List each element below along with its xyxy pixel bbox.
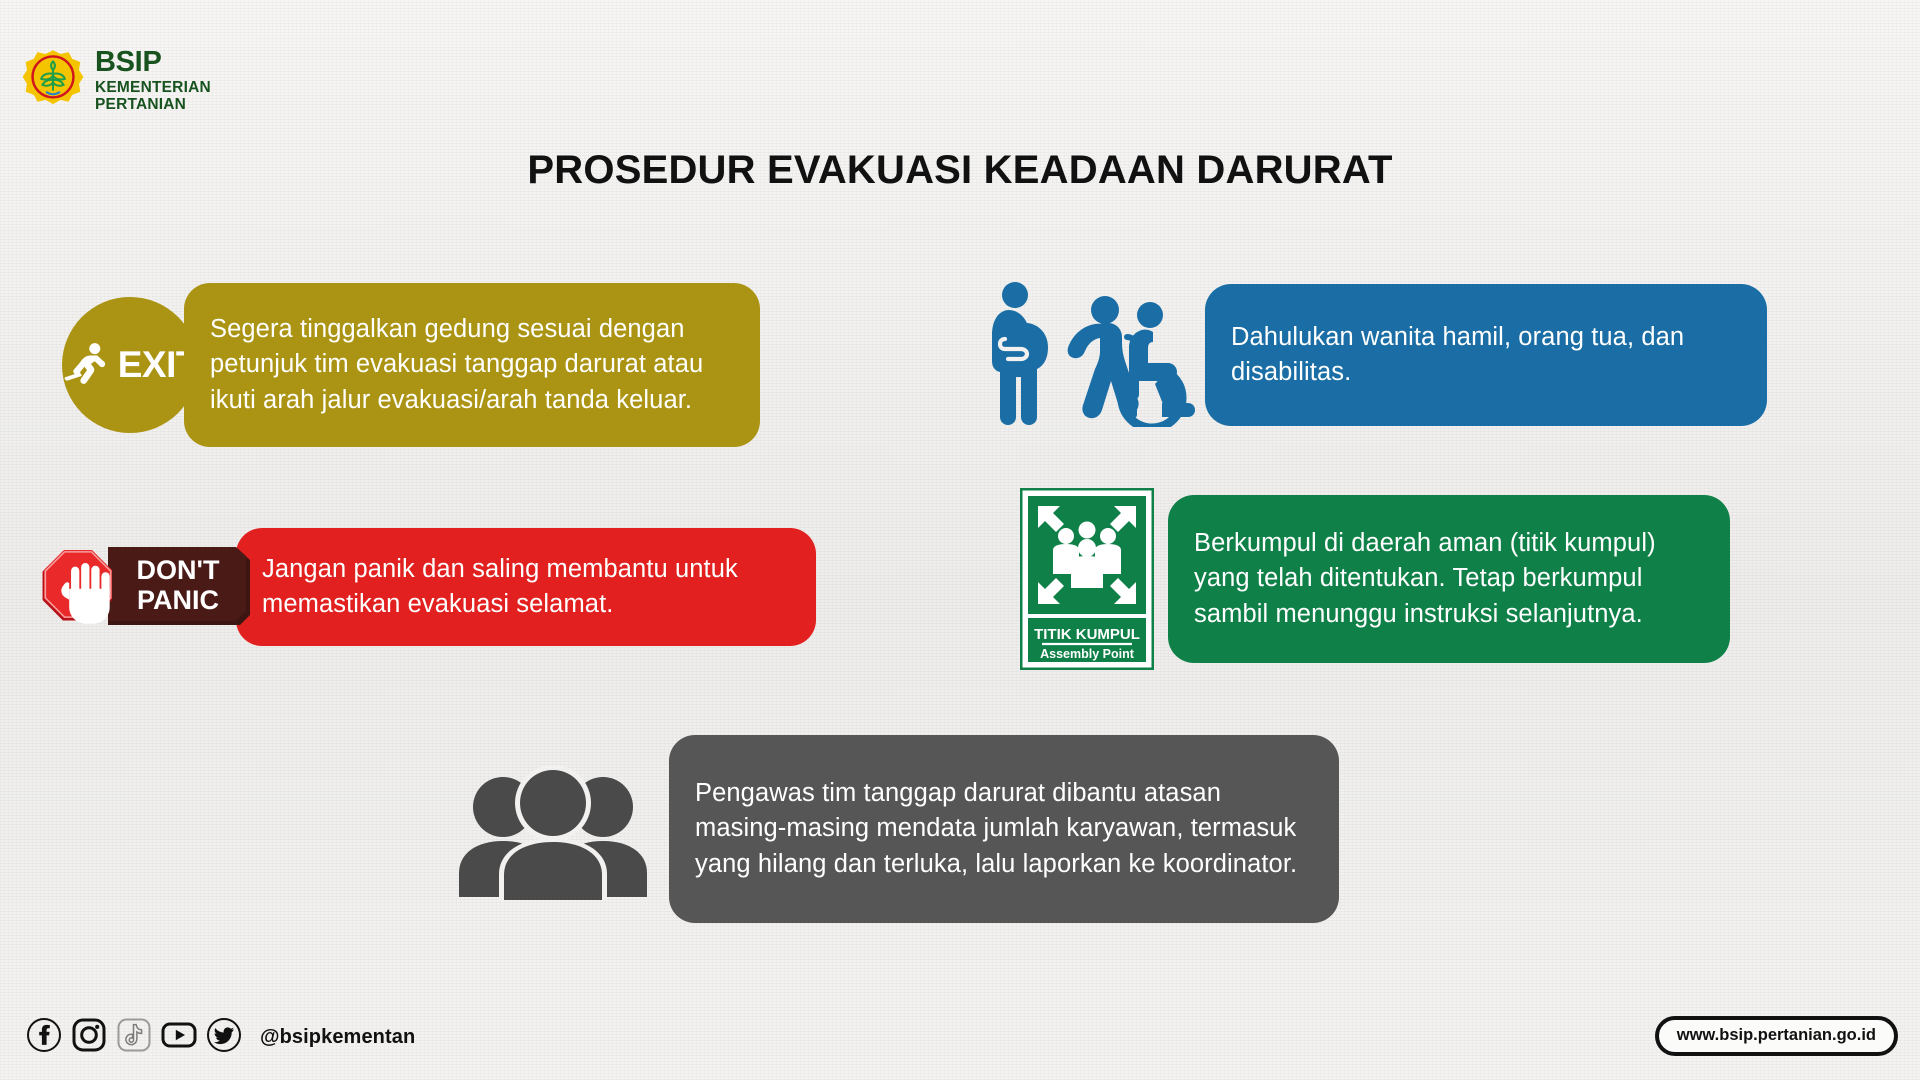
tiktok-icon[interactable]: [116, 1017, 152, 1058]
panic-label: PANIC: [137, 585, 219, 615]
brand-ministry-line-2: PERTANIAN: [95, 97, 211, 113]
brand-ministry-line-1: KEMENTERIAN: [95, 80, 211, 96]
social-handle: @bsipkementan: [260, 1026, 415, 1049]
page-title: PROSEDUR EVAKUASI KEADAAN DARURAT: [0, 148, 1920, 193]
stop-hand-dont-panic-icon: DON'T PANIC: [22, 533, 254, 641]
brand-wordmark: BSIP KEMENTERIAN PERTANIAN: [95, 48, 211, 112]
dont-label: DON'T: [137, 555, 220, 585]
step-priority: Dahulukan wanita hamil, orang tua, dan d…: [975, 283, 1767, 427]
facebook-icon[interactable]: [26, 1017, 62, 1058]
step-supervisor: Pengawas tim tanggap darurat dibantu ata…: [455, 735, 1339, 923]
step-exit-text: Segera tinggalkan gedung sesuai dengan p…: [210, 312, 734, 418]
instagram-icon[interactable]: [71, 1017, 107, 1058]
twitter-icon[interactable]: [206, 1017, 242, 1058]
step-assembly-text: Berkumpul di daerah aman (titik kumpul) …: [1194, 526, 1704, 632]
assembly-point-label: Assembly Point: [1040, 647, 1135, 661]
step-supervisor-bubble: Pengawas tim tanggap darurat dibantu ata…: [669, 735, 1339, 923]
group-of-people-icon: [455, 761, 651, 897]
footer-social-bar: @bsipkementan: [26, 1017, 415, 1058]
brand-name: BSIP: [95, 48, 211, 77]
assembly-point-sign-icon: TITIK KUMPUL Assembly Point: [1020, 488, 1154, 670]
titik-kumpul-label: TITIK KUMPUL: [1034, 626, 1140, 643]
step-priority-text: Dahulukan wanita hamil, orang tua, dan d…: [1231, 320, 1741, 390]
step-exit-bubble: Segera tinggalkan gedung sesuai dengan p…: [184, 283, 760, 447]
running-man-exit-icon: EXIT: [62, 297, 198, 433]
step-assembly: TITIK KUMPUL Assembly Point Berkumpul di…: [1020, 488, 1730, 670]
step-panic-text: Jangan panik dan saling membantu untuk m…: [262, 552, 790, 622]
step-panic: DON'T PANIC Jangan panik dan saling memb…: [22, 528, 816, 646]
website-pill[interactable]: www.bsip.pertanian.go.id: [1655, 1016, 1898, 1056]
step-exit: EXIT Segera tinggalkan gedung sesuai den…: [62, 283, 760, 447]
bsip-padi-logo-icon: [22, 49, 84, 111]
step-assembly-bubble: Berkumpul di daerah aman (titik kumpul) …: [1168, 495, 1730, 663]
step-panic-bubble: Jangan panik dan saling membantu untuk m…: [236, 528, 816, 646]
youtube-icon[interactable]: [161, 1017, 197, 1058]
step-supervisor-text: Pengawas tim tanggap darurat dibantu ata…: [695, 776, 1313, 882]
step-priority-bubble: Dahulukan wanita hamil, orang tua, dan d…: [1205, 284, 1767, 426]
pregnant-elderly-wheelchair-icon: [975, 283, 1197, 427]
brand-logo: BSIP KEMENTERIAN PERTANIAN: [22, 48, 211, 112]
